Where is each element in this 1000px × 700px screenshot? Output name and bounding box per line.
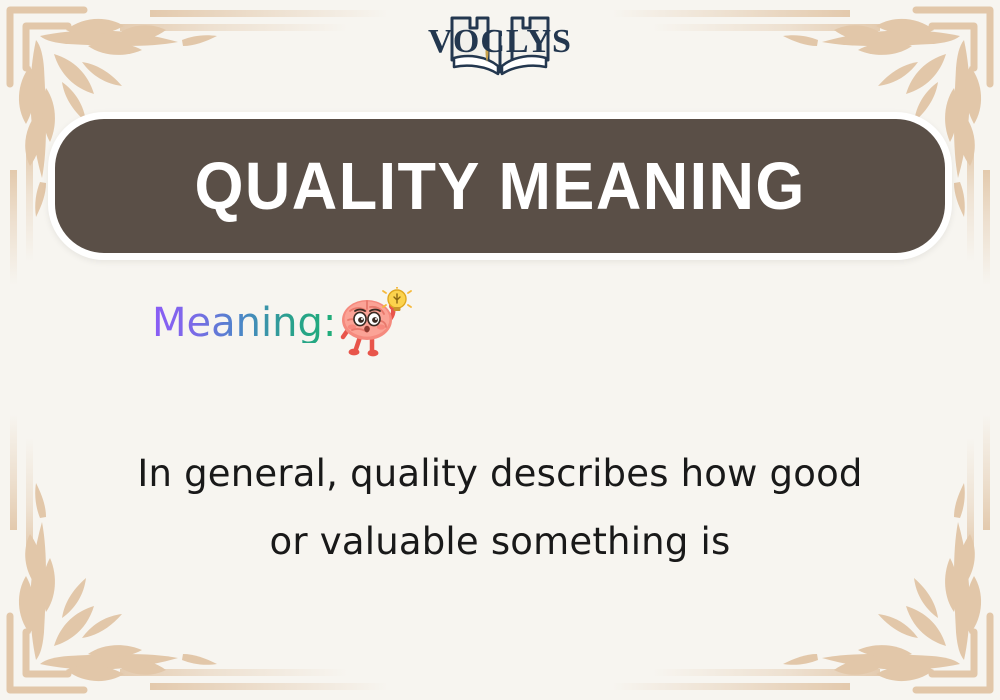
meaning-label-row: Meaning: [152,288,412,358]
frame-edge-right-inner [967,150,974,550]
title-banner: QUALITY MEANING [48,112,952,260]
frame-edge-left-inner [26,150,33,550]
meaning-label: Meaning: [152,303,336,343]
definition-text: In general, quality describes how good o… [120,440,880,576]
frame-edge-bottom [150,683,850,690]
vocabulary-card: VOCLYS QUALITY MEANING Meaning: [0,0,1000,700]
frame-edge-bottom-inner [120,669,880,676]
brain-character-with-lightbulb-icon [334,287,412,359]
page-title: QUALITY MEANING [194,153,805,220]
frame-edge-right [983,170,990,530]
brand-name: VOCLYS [405,25,595,59]
brand-logo: VOCLYS [0,8,1000,80]
frame-edge-left [10,170,17,530]
